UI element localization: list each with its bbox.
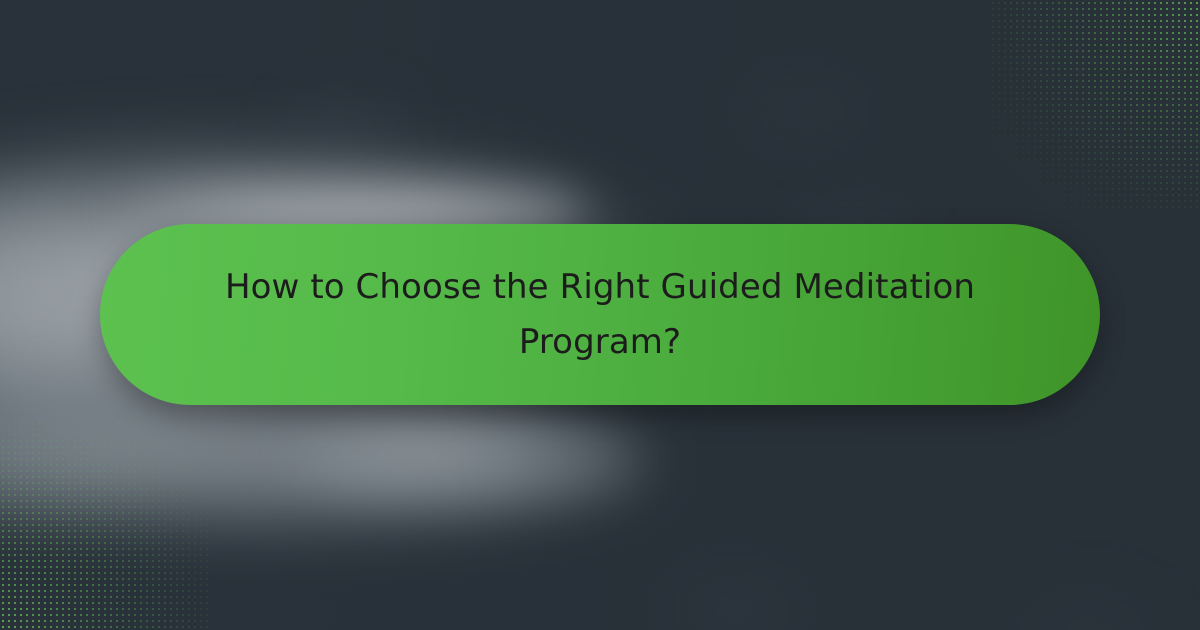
og-image-canvas: How to Choose the Right Guided Meditatio… <box>0 0 1200 630</box>
title-banner-pill: How to Choose the Right Guided Meditatio… <box>100 224 1100 405</box>
page-title: How to Choose the Right Guided Meditatio… <box>220 260 980 369</box>
